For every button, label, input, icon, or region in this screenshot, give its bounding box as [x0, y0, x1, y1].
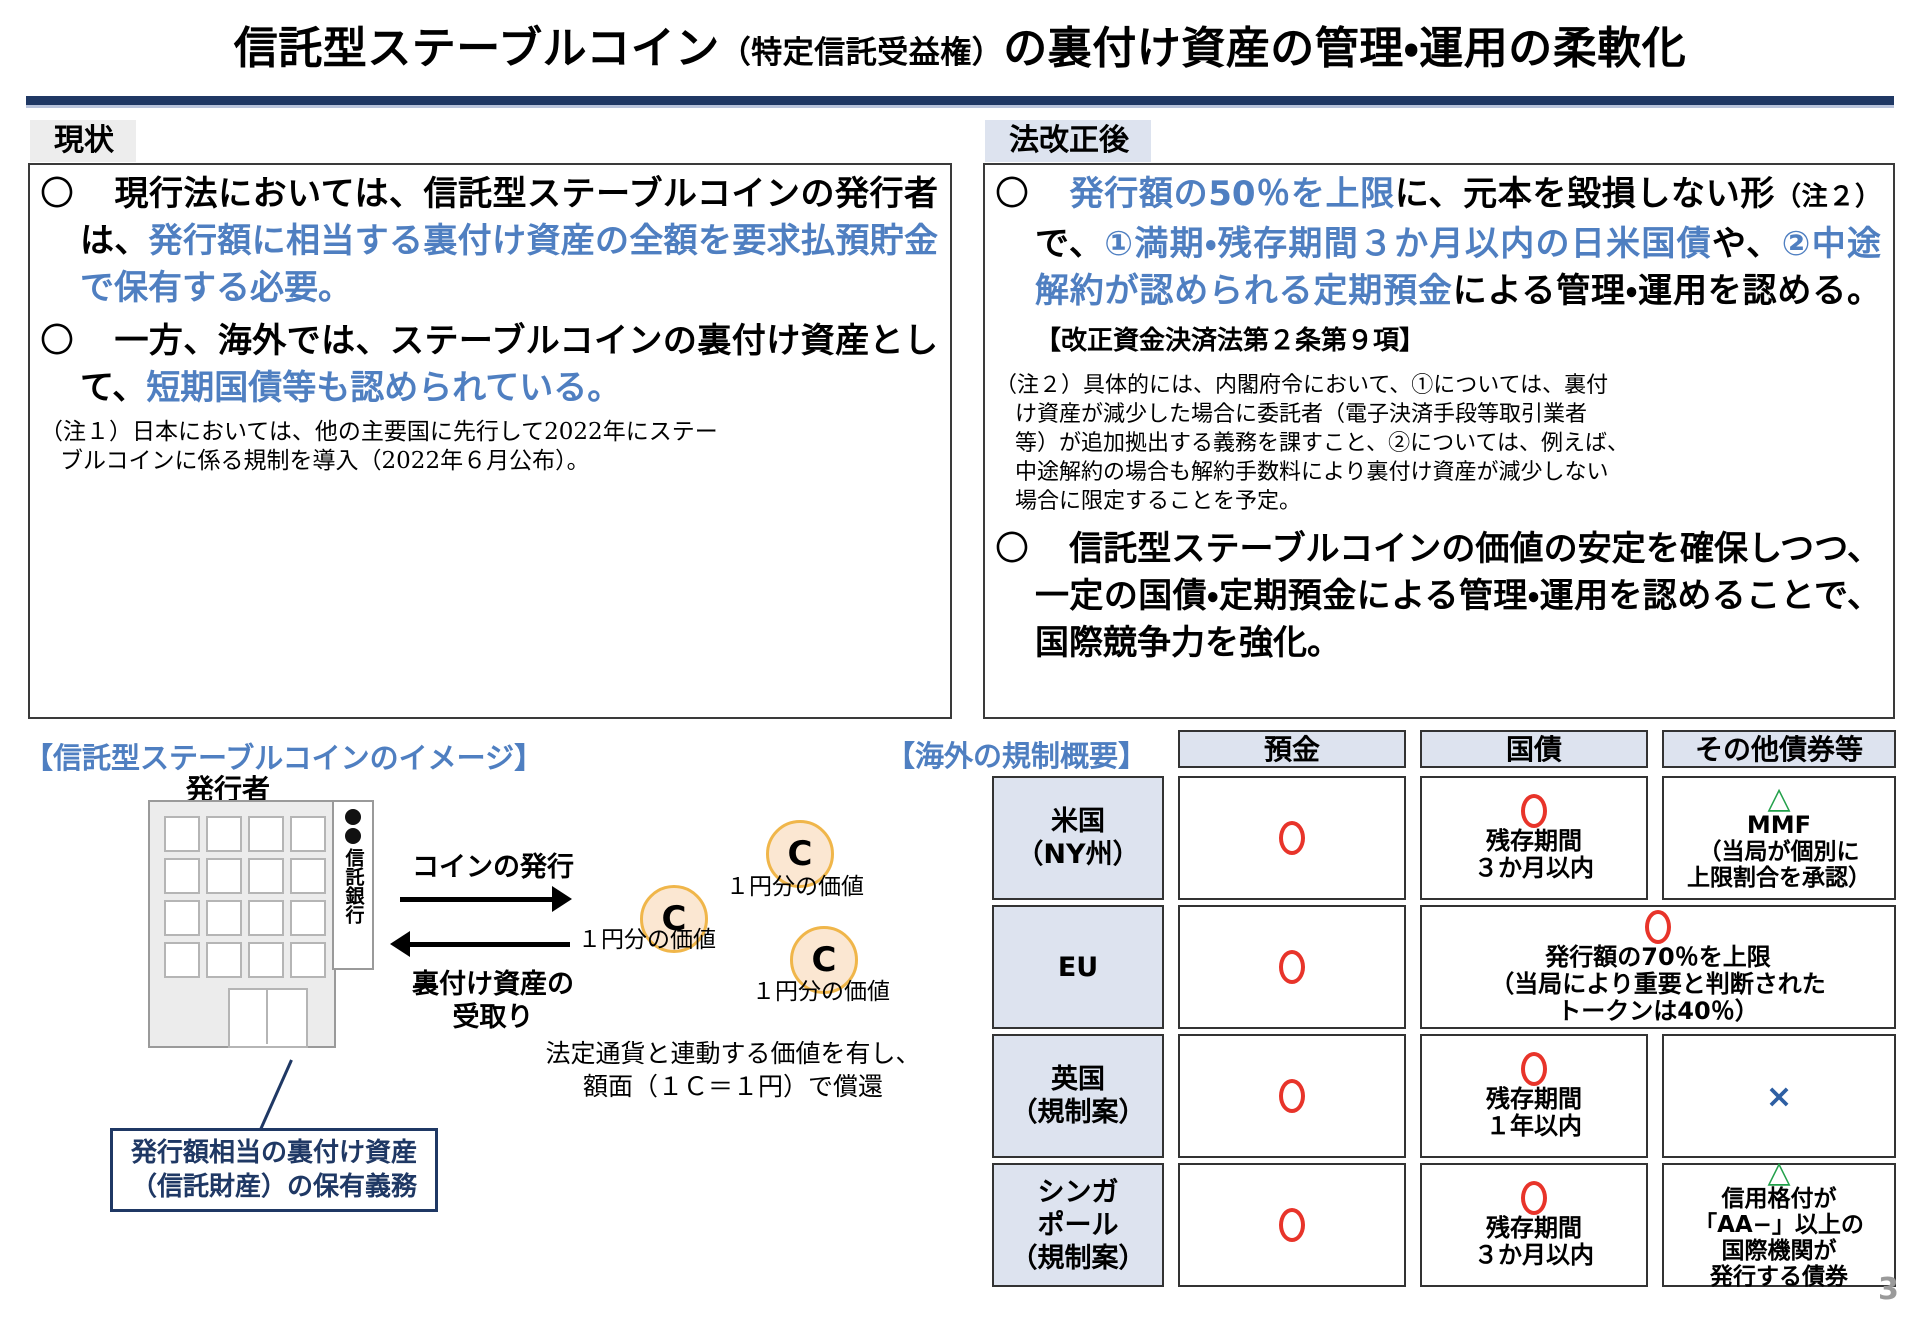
coin-caption-2: １円分の価値 [726, 867, 864, 901]
us-other-label: MMF [1747, 812, 1811, 839]
after-1-highlight-1: 発行額の50％を上限 [1035, 174, 1395, 214]
row-label-uk-line1: 英国 [1011, 1063, 1146, 1096]
after-1-plain-2: で、 [1035, 224, 1104, 264]
signboard-dot-icon [345, 809, 361, 825]
building-window [290, 942, 326, 978]
cross-icon: × [1766, 1082, 1793, 1110]
eu-merged-note-line1: 発行額の70％を上限 [1545, 944, 1770, 971]
page-title-part2: の裏付け資産の管理・運用の柔軟化 [1003, 23, 1686, 74]
row-label-sg-line2: ポール [1011, 1209, 1146, 1242]
bullet-marker: 〇 [40, 171, 80, 312]
footnote-1-line1: （注１）日本においては、他の主要国に先行して2022年にステー [40, 418, 938, 447]
footnote-2-line1: （注２）具体的には、内閣府令において、①については、裏付 [995, 371, 1881, 400]
overseas-regulation-caption: 【海外の規制概要】 [886, 733, 1147, 775]
bullet-current-1: 〇 現行法においては、信託型ステーブルコインの発行者は、発行額に相当する裏付け資… [40, 171, 938, 312]
arrow-receive-label-line1: 裏付け資産の [408, 968, 578, 1001]
panel-current-status: 〇 現行法においては、信託型ステーブルコインの発行者は、発行額に相当する裏付け資… [28, 163, 952, 719]
footnote-2-line2: け資産が減少した場合に委託者（電子決済手段等取引業者 [995, 400, 1881, 429]
building-window [206, 900, 242, 936]
table-cell-uk-deposit [1178, 1034, 1406, 1158]
coin-caption-1: １円分の価値 [578, 920, 716, 954]
building-window [206, 816, 242, 852]
table-cell-uk-govbond: 残存期間 １年以内 [1420, 1034, 1648, 1158]
bullet-after-2: 〇 信託型ステーブルコインの価値の安定を確保しつつ、一定の国債・定期預金による管… [995, 526, 1881, 667]
signboard-dot-icon [345, 828, 361, 844]
row-label-sg-line1: シンガ [1011, 1176, 1146, 1209]
eu-merged-note-line2: （当局により重要と判断された [1490, 971, 1826, 998]
legal-tender-note: 法定通貨と連動する価値を有し、 額面（１Ｃ＝１円）で償還 [543, 1037, 923, 1103]
panel-tab-current: 現状 [30, 120, 136, 162]
bullet-current-2-highlight: 短期国債等も認められている。 [146, 368, 621, 408]
table-cell-us-deposit [1178, 776, 1406, 900]
bullet-after-1-text: 発行額の50％を上限に、元本を毀損しない形（注２）で、①満期・残存期間３か月以内… [1035, 171, 1881, 365]
signboard-label: 信託銀行 [343, 848, 364, 924]
circle-icon [1521, 794, 1547, 828]
trust-bank-building-icon [148, 800, 336, 1048]
bullet-after-1: 〇 発行額の50％を上限に、元本を毀損しない形（注２）で、①満期・残存期間３か月… [995, 171, 1881, 365]
uk-govbond-note-line2: １年以内 [1486, 1113, 1582, 1140]
sg-other-note-line1: 信用格付が [1722, 1186, 1837, 1212]
arrow-right-head-icon [552, 886, 572, 912]
bullet-current-1-highlight: 発行額に相当する裏付け資産の全額を要求払預貯金で保有する必要。 [80, 221, 938, 308]
title-divider [26, 96, 1894, 105]
bullet-current-2: 〇 一方、海外では、ステーブルコインの裏付け資産として、短期国債等も認められてい… [40, 318, 938, 412]
after-1-plain-3: や、 [1712, 224, 1782, 264]
building-window [290, 900, 326, 936]
eu-merged-note-line3: トークンは40％） [1557, 998, 1758, 1025]
building-window [248, 858, 284, 894]
circle-icon [1645, 910, 1671, 944]
footnote-1-line2: ブルコインに係る規制を導入（2022年６月公布）。 [40, 447, 938, 476]
after-1-law-reference: 【改正資金決済法第２条第９項】 [1035, 326, 1425, 356]
bullet-after-2-text: 信託型ステーブルコインの価値の安定を確保しつつ、一定の国債・定期預金による管理・… [1035, 526, 1881, 667]
table-cell-uk-other: × [1662, 1034, 1896, 1158]
uk-govbond-note-line1: 残存期間 [1486, 1086, 1582, 1113]
bullet-current-1-text: 現行法においては、信託型ステーブルコインの発行者は、発行額に相当する裏付け資産の… [80, 171, 938, 312]
building-door [228, 988, 308, 1048]
sg-other-note-line3: 国際機関が [1722, 1238, 1837, 1264]
panel-after-amendment: 〇 発行額の50％を上限に、元本を毀損しない形（注２）で、①満期・残存期間３か月… [983, 163, 1895, 719]
table-cell-sg-other: △ 信用格付が 「AA−」以上の 国際機関が 発行する債券 [1662, 1163, 1896, 1287]
page-number: 3 [1878, 1272, 1899, 1307]
table-header-deposit: 預金 [1178, 730, 1406, 768]
circle-icon [1279, 821, 1305, 855]
building-window [164, 858, 200, 894]
building-window [164, 942, 200, 978]
arrow-receive-label: 裏付け資産の 受取り [408, 968, 578, 1034]
building-window [290, 816, 326, 852]
callout-line1: 発行額相当の裏付け資産 [131, 1136, 417, 1170]
triangle-icon: △ [1767, 1160, 1790, 1186]
legal-tender-note-line1: 法定通貨と連動する価値を有し、 [543, 1037, 923, 1070]
us-other-note-line1: （当局が個別に [1699, 839, 1860, 865]
circle-icon [1521, 1181, 1547, 1215]
bullet-marker: 〇 [995, 171, 1035, 365]
sg-govbond-note-line1: 残存期間 [1486, 1215, 1582, 1242]
page-title-part1: 信託型ステーブルコイン [234, 23, 720, 74]
row-label-eu-line1: EU [1058, 951, 1098, 984]
us-other-note-line2: 上限割合を承認） [1687, 865, 1871, 891]
arrow-receive-label-line2: 受取り [408, 1001, 578, 1034]
footnote-2: （注２）具体的には、内閣府令において、①については、裏付 け資産が減少した場合に… [995, 371, 1881, 516]
table-header-other: その他債券等 [1662, 730, 1896, 768]
row-label-us-line2: （NY州） [1016, 838, 1139, 871]
callout-line2: （信託財産）の保有義務 [131, 1170, 417, 1204]
bullet-current-2-text: 一方、海外では、ステーブルコインの裏付け資産として、短期国債等も認められている。 [80, 318, 938, 412]
table-header-govbond: 国債 [1420, 730, 1648, 768]
after-1-plain-1: に、元本を毀損しない形 [1395, 174, 1775, 214]
bullet-marker: 〇 [995, 526, 1035, 667]
footnote-2-line4: 中途解約の場合も解約手数料により裏付け資産が減少しない [995, 458, 1881, 487]
legal-tender-note-line2: 額面（１Ｃ＝１円）で償還 [543, 1070, 923, 1103]
arrow-left-head-icon [390, 931, 410, 957]
table-cell-eu-deposit [1178, 905, 1406, 1029]
sg-other-note-line2: 「AA−」以上の [1694, 1212, 1864, 1238]
building-window [248, 942, 284, 978]
callout-connector-line [258, 1059, 292, 1131]
triangle-icon: △ [1767, 786, 1790, 812]
row-label-us-line1: 米国 [1016, 805, 1139, 838]
table-row-label-us: 米国 （NY州） [992, 776, 1164, 900]
page-title-paren: （特定信託受益権） [720, 35, 1004, 71]
table-cell-sg-deposit [1178, 1163, 1406, 1287]
backing-asset-callout: 発行額相当の裏付け資産 （信託財産）の保有義務 [110, 1128, 438, 1212]
table-cell-us-govbond: 残存期間 ３か月以内 [1420, 776, 1648, 900]
circle-icon [1279, 1208, 1305, 1242]
after-1-highlight-2: ①満期・残存期間３か月以内の日米国債 [1104, 224, 1712, 264]
arrow-issue-label: コインの発行 [412, 845, 574, 884]
table-cell-us-other: △ MMF （当局が個別に 上限割合を承認） [1662, 776, 1896, 900]
diagram-caption: 【信託型ステーブルコインのイメージ】 [24, 735, 543, 777]
panel-tab-after-amendment: 法改正後 [985, 120, 1151, 162]
arrow-left-line [410, 942, 570, 947]
footnote-2-line5: 場合に限定することを予定。 [995, 487, 1881, 516]
building-window [164, 816, 200, 852]
building-window [248, 900, 284, 936]
us-govbond-note-line2: ３か月以内 [1474, 855, 1594, 882]
us-govbond-note-line1: 残存期間 [1486, 828, 1582, 855]
sg-govbond-note-line2: ３か月以内 [1474, 1242, 1594, 1269]
table-row-label-sg: シンガ ポール （規制案） [992, 1163, 1164, 1287]
circle-icon [1279, 950, 1305, 984]
building-window [248, 816, 284, 852]
coin-caption-3: １円分の価値 [752, 972, 890, 1006]
row-label-uk-line2: （規制案） [1011, 1096, 1146, 1129]
building-window [164, 900, 200, 936]
row-label-sg-line3: （規制案） [1011, 1242, 1146, 1275]
after-1-plain-4: による管理・運用を認める。 [1453, 271, 1881, 311]
circle-icon [1521, 1052, 1547, 1086]
building-window [206, 858, 242, 894]
circle-icon [1279, 1079, 1305, 1113]
table-cell-sg-govbond: 残存期間 ３か月以内 [1420, 1163, 1648, 1287]
sg-other-note-line4: 発行する債券 [1710, 1264, 1848, 1290]
footnote-2-line3: 等）が追加拠出する義務を課すこと、②については、例えば、 [995, 429, 1881, 458]
footnote-1: （注１）日本においては、他の主要国に先行して2022年にステー ブルコインに係る… [40, 418, 938, 476]
table-row-label-eu: EU [992, 905, 1164, 1029]
after-1-note-ref: （注２） [1775, 182, 1881, 212]
building-door-divider [266, 988, 268, 1044]
building-window [206, 942, 242, 978]
building-window [290, 858, 326, 894]
bullet-marker: 〇 [40, 318, 80, 412]
title-divider-light [26, 105, 1894, 108]
table-cell-eu-merged: 発行額の70％を上限 （当局により重要と判断された トークンは40％） [1420, 905, 1896, 1029]
arrow-right-line [400, 897, 560, 902]
page-title: 信託型ステーブルコイン（特定信託受益権）の裏付け資産の管理・運用の柔軟化 [0, 12, 1920, 76]
trust-bank-signboard: 信託銀行 [332, 800, 374, 970]
table-row-label-uk: 英国 （規制案） [992, 1034, 1164, 1158]
